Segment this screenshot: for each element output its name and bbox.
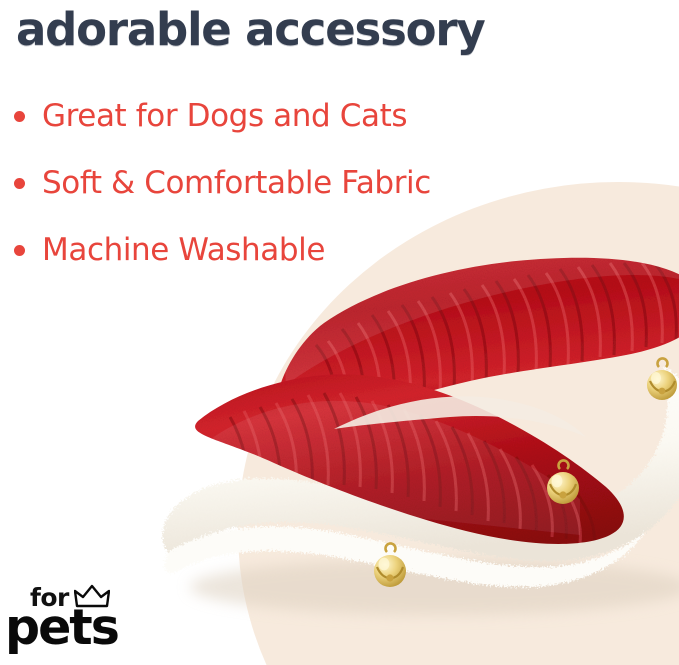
bell-top-right [647,358,677,400]
product-feature-panel: adorable accessory Great for Dogs and Ca… [0,0,679,665]
bullet-dot-icon [14,178,25,189]
list-item: Great for Dogs and Cats [14,82,431,149]
page-title: adorable accessory [16,2,485,58]
feature-list: Great for Dogs and Cats Soft & Comfortab… [14,82,431,283]
feature-label: Machine Washable [42,232,325,268]
feature-label: Soft & Comfortable Fabric [42,165,431,201]
bullet-dot-icon [14,111,25,122]
logo-text-pets: pets [5,603,118,652]
list-item: Soft & Comfortable Fabric [14,149,431,216]
brand-logo: for pets [8,583,138,657]
list-item: Machine Washable [14,216,431,283]
feature-label: Great for Dogs and Cats [42,98,407,134]
bullet-dot-icon [14,245,25,256]
